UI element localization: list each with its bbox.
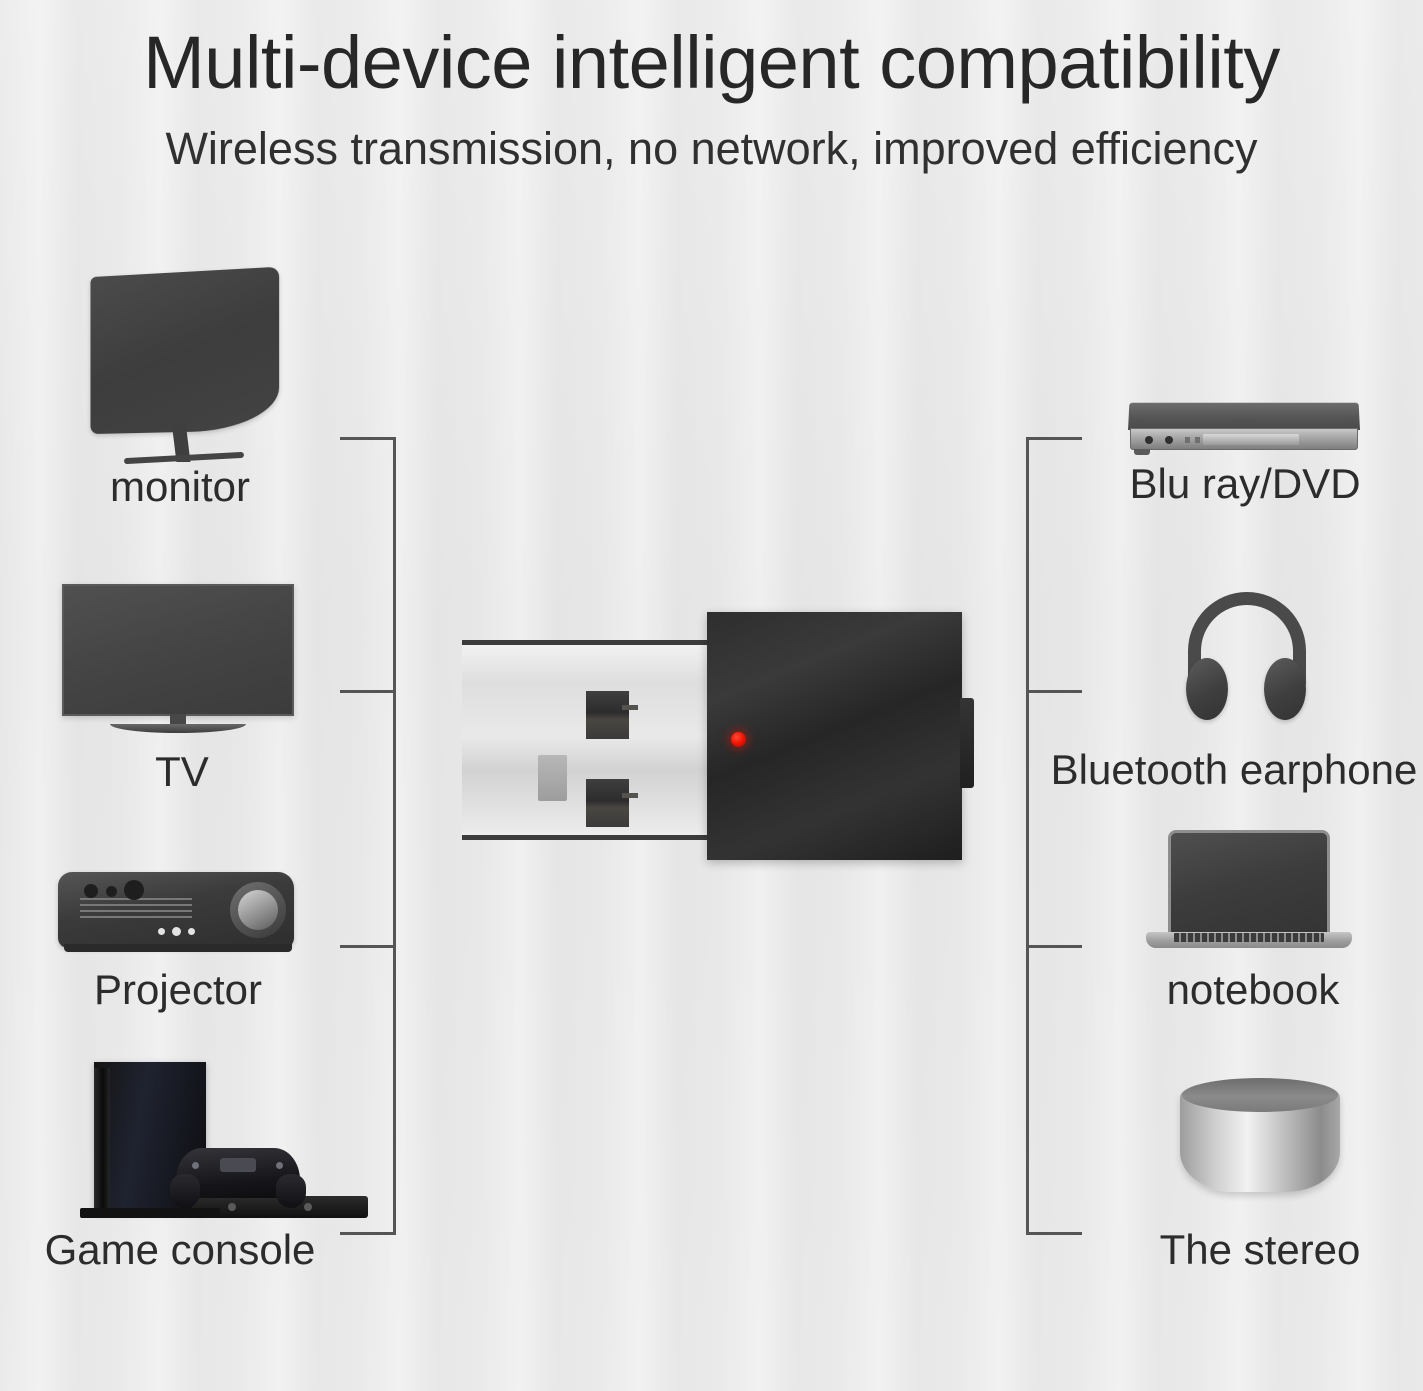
game-controller [176, 1148, 300, 1198]
left-bracket-tick-game-console [340, 1232, 396, 1235]
projector-lens-glass [238, 890, 278, 930]
game-controller-grip-right [276, 1174, 306, 1208]
projector-indicator-1 [158, 928, 165, 935]
game-console-icon [72, 1062, 372, 1222]
left-bracket-tick-projector [340, 945, 396, 948]
game-controller-button-1 [192, 1162, 199, 1169]
bluray-player-port-2 [1195, 437, 1200, 443]
page-subtitle: Wireless transmission, no network, impro… [0, 124, 1423, 174]
game-console-camera-dot-1 [228, 1203, 236, 1211]
bluetooth-earphone-label: Bluetooth earphone [1044, 748, 1423, 792]
tv-icon [62, 584, 302, 744]
right-bracket-tick-earphone [1026, 690, 1082, 693]
game-console-camera-dot-2 [304, 1203, 312, 1211]
stereo-label: The stereo [1130, 1228, 1390, 1272]
projector-indicator-3 [188, 928, 195, 935]
tv-stand-base [110, 724, 246, 733]
bluray-player-button-2 [1165, 436, 1173, 444]
game-controller-grip-left [170, 1174, 200, 1208]
bluray-dvd-label: Blu ray/DVD [1090, 462, 1400, 506]
bluray-player-front-panel [1130, 428, 1358, 450]
projector-knob-2 [106, 886, 117, 897]
usb-contact-block-bottom [586, 779, 629, 827]
left-bracket-tick-tv [340, 690, 396, 693]
game-controller-touchpad [220, 1158, 256, 1172]
bluray-player-disc-tray [1203, 434, 1299, 445]
bluray-player-top-panel [1128, 403, 1360, 430]
usb-adapter-housing [707, 612, 962, 860]
speaker-icon [1180, 1078, 1344, 1202]
tv-screen [62, 584, 294, 716]
right-bracket-spine [1026, 437, 1029, 1235]
bluray-player-button-1 [1145, 436, 1153, 444]
monitor-label: monitor [60, 465, 300, 509]
right-bracket-tick-notebook [1026, 945, 1082, 948]
projector-icon [58, 872, 302, 962]
usb-alignment-tab [538, 755, 567, 801]
left-bracket-tick-monitor [340, 437, 396, 440]
game-console-label: Game console [20, 1228, 340, 1272]
laptop-base [1146, 932, 1352, 948]
game-console-foot [80, 1208, 220, 1218]
projector-lens [230, 882, 286, 938]
bluray-dvd-player-icon [1128, 402, 1364, 458]
right-bracket-tick-stereo [1026, 1232, 1082, 1235]
monitor-screen [90, 267, 279, 434]
laptop-keyboard [1174, 933, 1324, 942]
projector-knob-3 [124, 880, 144, 900]
laptop-screen [1168, 830, 1330, 934]
notebook-label: notebook [1128, 968, 1378, 1012]
monitor-icon [88, 272, 288, 472]
led-indicator-icon [731, 732, 746, 747]
usb-side-button[interactable] [960, 698, 974, 788]
left-bracket-spine [393, 437, 396, 1235]
laptop-icon [1146, 830, 1358, 954]
usb-connector-shell [462, 640, 717, 840]
infographic-canvas: Multi-device intelligent compatibility W… [0, 0, 1423, 1391]
usb-bluetooth-adapter [462, 612, 974, 862]
bluray-player-port-1 [1185, 437, 1190, 443]
projector-knob-1 [84, 884, 98, 898]
projector-foot [64, 944, 292, 952]
usb-contact-block-top [586, 691, 629, 739]
right-bracket-tick-bluray [1026, 437, 1082, 440]
game-console-vent-slit [94, 1068, 110, 1208]
bluray-player-foot [1134, 449, 1150, 455]
game-controller-button-2 [276, 1162, 283, 1169]
projector-label: Projector [48, 968, 308, 1012]
page-title: Multi-device intelligent compatibility [0, 24, 1423, 102]
projector-vent-grille [80, 898, 192, 922]
headphones-icon [1188, 592, 1308, 728]
tv-label: TV [62, 750, 302, 794]
speaker-top-surface [1182, 1078, 1338, 1112]
headphones-earcup-right [1264, 658, 1306, 720]
headphones-earcup-left [1186, 658, 1228, 720]
projector-indicator-2 [172, 927, 181, 936]
